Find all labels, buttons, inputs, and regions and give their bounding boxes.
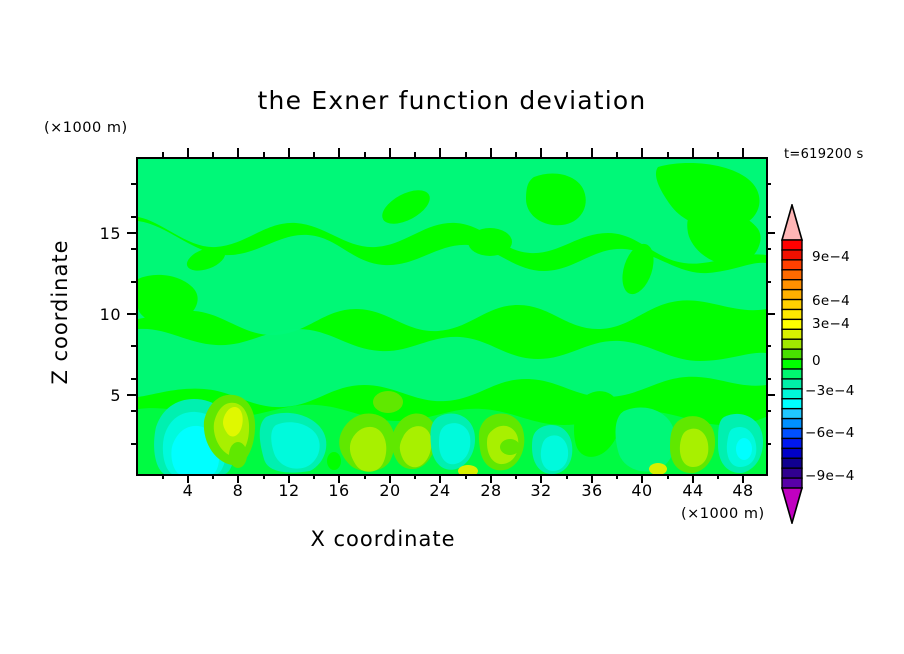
x-tick-top-32 (540, 148, 542, 157)
x-tick-top-36 (591, 148, 593, 157)
x-tick-minor-6 (212, 474, 214, 479)
colorbar-label-9e-4: 9e−4 (812, 249, 850, 265)
x-tick-minor-14 (313, 474, 315, 479)
x-tick-minor-2 (162, 474, 164, 479)
x-tick-top-minor-10 (263, 152, 265, 157)
x-tick-top-48 (742, 148, 744, 157)
x-tick-minor-18 (364, 474, 366, 479)
y-tick-10 (127, 313, 136, 315)
x-tick-top-4 (187, 148, 189, 157)
time-annotation: t=619200 s (784, 147, 864, 162)
x-tick-minor-38 (616, 474, 618, 479)
x-tick-top-minor-46 (717, 152, 719, 157)
x-tick-label-44: 44 (673, 481, 713, 500)
x-tick-label-8: 8 (218, 481, 258, 500)
colorbar-label-neg9e-4: −9e−4 (805, 468, 855, 484)
x-tick-top-minor-2 (162, 152, 164, 157)
x-tick-minor-34 (566, 474, 568, 479)
y-tick-right-minor-12 (766, 281, 771, 283)
y-tick-right-minor-8 (766, 345, 771, 347)
y-tick-right-15 (766, 232, 775, 234)
x-tick-top-12 (288, 148, 290, 157)
colorbar-label-neg3e-4: −3e−4 (805, 383, 855, 399)
y-tick-minor-16 (131, 216, 136, 218)
x-axis-units-label: (×1000 m) (681, 506, 765, 522)
colorbar-label-0: 0 (812, 353, 821, 369)
y-tick-label-5: 5 (87, 386, 121, 405)
y-tick-minor-6 (131, 378, 136, 380)
y-tick-5 (127, 394, 136, 396)
contour-plot-area (136, 157, 768, 476)
x-tick-top-24 (439, 148, 441, 157)
y-tick-minor-2 (131, 443, 136, 445)
colorbar (779, 204, 805, 524)
y-tick-15 (127, 232, 136, 234)
figure-canvas: the Exner function deviation (×1000 m) t… (0, 0, 904, 654)
x-tick-label-40: 40 (622, 481, 662, 500)
x-tick-minor-30 (515, 474, 517, 479)
x-tick-top-44 (692, 148, 694, 157)
x-tick-minor-26 (465, 474, 467, 479)
x-tick-label-16: 16 (319, 481, 359, 500)
x-tick-top-minor-34 (566, 152, 568, 157)
colorbar-label-3e-4: 3e−4 (812, 316, 850, 332)
y-tick-right-minor-16 (766, 216, 771, 218)
x-tick-minor-46 (717, 474, 719, 479)
x-tick-top-28 (490, 148, 492, 157)
x-tick-top-minor-6 (212, 152, 214, 157)
y-tick-minor-4 (131, 410, 136, 412)
x-tick-top-minor-42 (667, 152, 669, 157)
y-tick-label-10: 10 (87, 305, 121, 324)
x-tick-top-minor-14 (313, 152, 315, 157)
x-tick-label-4: 4 (168, 481, 208, 500)
y-tick-right-5 (766, 394, 775, 396)
y-tick-right-minor-18 (766, 183, 771, 185)
x-tick-label-20: 20 (370, 481, 410, 500)
colorbar-label-neg6e-4: −6e−4 (805, 425, 855, 441)
x-axis-title: X coordinate (0, 527, 766, 551)
x-tick-top-40 (641, 148, 643, 157)
x-tick-top-minor-22 (414, 152, 416, 157)
x-tick-top-minor-30 (515, 152, 517, 157)
x-tick-top-minor-38 (616, 152, 618, 157)
x-tick-minor-22 (414, 474, 416, 479)
x-tick-label-36: 36 (572, 481, 612, 500)
y-axis-title: Z coordinate (48, 212, 72, 412)
x-tick-label-48: 48 (723, 481, 763, 500)
contour-field (138, 159, 766, 474)
x-tick-label-28: 28 (471, 481, 511, 500)
y-tick-minor-18 (131, 183, 136, 185)
y-axis-units-label: (×1000 m) (44, 120, 128, 136)
x-tick-label-24: 24 (420, 481, 460, 500)
y-tick-right-minor-14 (766, 248, 771, 250)
page-title: the Exner function deviation (0, 86, 904, 115)
x-tick-minor-10 (263, 474, 265, 479)
x-tick-top-16 (338, 148, 340, 157)
colorbar-swatches (779, 204, 805, 524)
x-tick-top-minor-26 (465, 152, 467, 157)
x-tick-minor-42 (667, 474, 669, 479)
y-tick-label-15: 15 (87, 224, 121, 243)
colorbar-label-6e-4: 6e−4 (812, 293, 850, 309)
x-tick-label-12: 12 (269, 481, 309, 500)
y-tick-right-minor-4 (766, 410, 771, 412)
y-tick-minor-12 (131, 281, 136, 283)
y-tick-right-10 (766, 313, 775, 315)
y-tick-right-minor-2 (766, 443, 771, 445)
y-tick-right-minor-6 (766, 378, 771, 380)
x-tick-top-20 (389, 148, 391, 157)
x-tick-top-minor-18 (364, 152, 366, 157)
y-tick-minor-14 (131, 248, 136, 250)
x-tick-top-8 (237, 148, 239, 157)
y-tick-minor-8 (131, 345, 136, 347)
x-tick-label-32: 32 (521, 481, 561, 500)
